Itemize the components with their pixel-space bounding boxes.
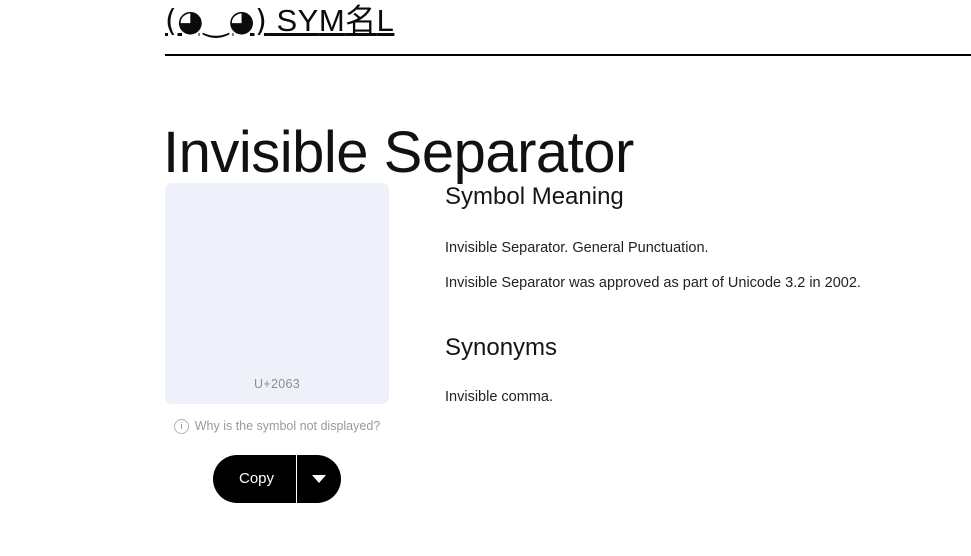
symbol-meaning-paragraph-2: Invisible Separator was approved as part… <box>445 273 945 293</box>
symbol-not-displayed-note[interactable]: Why is the symbol not displayed? <box>165 418 389 434</box>
symbol-meaning-paragraph-1: Invisible Separator. General Punctuation… <box>445 238 945 258</box>
symbol-preview-card[interactable]: U+2063 <box>165 183 389 404</box>
symbol-panel: U+2063 Why is the symbol not displayed? … <box>165 183 390 503</box>
logo-wordmark-tail: L <box>377 3 395 38</box>
synonyms-paragraph-1: Invisible comma. <box>445 387 945 407</box>
site-header: (◕‿◕) SYM名L <box>0 0 971 55</box>
symbol-glyph <box>165 183 389 404</box>
copy-dropdown-button[interactable] <box>297 455 341 503</box>
symbol-meaning-heading: Symbol Meaning <box>445 181 945 213</box>
copy-button-group: Copy <box>165 455 389 503</box>
symbol-not-displayed-label: Why is the symbol not displayed? <box>195 418 381 434</box>
logo-emoticon-icon: (◕‿◕) <box>165 4 267 39</box>
header-divider <box>165 54 971 56</box>
logo-letter-m: M <box>319 3 345 38</box>
logo-cjk-character: 名 <box>345 3 377 39</box>
site-logo[interactable]: (◕‿◕) SYM名L <box>165 2 394 41</box>
info-circle-icon <box>174 419 189 434</box>
copy-button[interactable]: Copy <box>213 455 296 503</box>
chevron-down-icon <box>312 475 326 483</box>
logo-wordmark: SY <box>267 3 318 38</box>
page-title: Invisible Separator <box>163 117 634 189</box>
page-root: (◕‿◕) SYM名L Invisible Separator U+2063 W… <box>0 0 971 556</box>
copy-split-button: Copy <box>213 455 341 503</box>
synonyms-heading: Synonyms <box>445 332 945 364</box>
symbol-details: Symbol Meaning Invisible Separator. Gene… <box>445 181 945 407</box>
symbol-codepoint-label: U+2063 <box>165 376 389 392</box>
